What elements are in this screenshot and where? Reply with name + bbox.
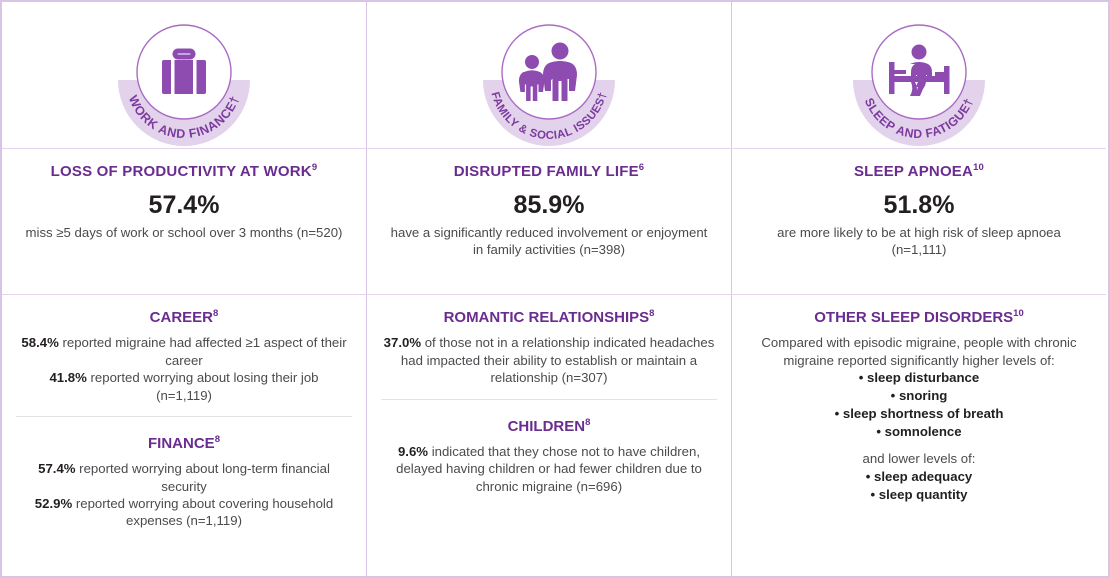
detail-line-text: indicated that they chose not to have ch…	[396, 444, 702, 494]
badge-cell-family-and-social-issues: FAMILY & SOCIAL ISSUES†	[367, 2, 731, 148]
stat-card-sleep-apnoea: SLEEP APNOEA10 51.8% are more likely to …	[732, 149, 1106, 294]
detail-line-text: (n=1,119)	[156, 388, 212, 403]
detail-block-romantic-relationships: ROMANTIC RELATIONSHIPS8 37.0% of those n…	[367, 295, 731, 399]
detail-line-text: of those not in a relationship indicated…	[401, 335, 714, 385]
stat-card-disrupted-family-life: DISRUPTED FAMILY LIFE6 85.9% have a sign…	[367, 149, 731, 294]
stat-title-text: LOSS OF PRODUCTIVITY AT WORK	[51, 163, 312, 180]
badge-sleep-and-fatigue-graphic: SLEEP AND FATIGUE†	[849, 10, 989, 148]
badge-family-and-social-issues: FAMILY & SOCIAL ISSUES†	[479, 10, 619, 148]
badge-sleep-and-fatigue: SLEEP AND FATIGUE†	[849, 10, 989, 148]
stat-value: 85.9%	[514, 190, 585, 221]
stat-card-loss-of-productivity-at-work: LOSS OF PRODUCTIVITY AT WORK9 57.4% miss…	[2, 149, 366, 294]
stat-value: 57.4%	[149, 190, 220, 221]
list-item: • sleep quantity	[746, 486, 1092, 504]
detail-title: ROMANTIC RELATIONSHIPS8	[381, 309, 717, 326]
detail-title: CHILDREN8	[381, 418, 717, 435]
detail-line-text: reported worrying about covering househo…	[72, 496, 333, 528]
list-item: • sleep shortness of breath	[746, 405, 1092, 423]
detail-title-reference: 8	[215, 434, 220, 445]
detail-line: (n=1,119)	[16, 387, 352, 404]
detail-line-text: reported worrying about long-term financ…	[76, 461, 330, 493]
stat-value: 51.8%	[884, 190, 955, 221]
detail-line-text: reported worrying about losing their job	[87, 370, 319, 385]
lower-levels-list: • sleep adequacy • sleep quantity	[746, 468, 1092, 504]
detail-body: 57.4% reported worrying about long-term …	[16, 460, 352, 530]
detail-title-text: ROMANTIC RELATIONSHIPS	[444, 309, 650, 326]
detail-column-family-and-social-issues: ROMANTIC RELATIONSHIPS8 37.0% of those n…	[367, 295, 731, 576]
detail-title-text: OTHER SLEEP DISORDERS	[814, 309, 1013, 326]
stat-title-text: SLEEP APNOEA	[854, 163, 973, 180]
detail-line-value: 9.6%	[398, 444, 428, 459]
badge-cell-work-and-finance: WORK AND FINANCE†	[2, 2, 366, 148]
detail-block-career: CAREER8 58.4% reported migraine had affe…	[2, 295, 366, 416]
detail-line-value: 41.8%	[49, 370, 86, 385]
stat-title: SLEEP APNOEA10	[854, 163, 984, 180]
detail-line: 58.4% reported migraine had affected ≥1 …	[16, 334, 352, 369]
lower-levels-intro: and lower levels of:	[746, 450, 1092, 467]
detail-block-finance: FINANCE8 57.4% reported worrying about l…	[2, 417, 366, 542]
stat-title-reference: 9	[312, 162, 317, 173]
detail-block-other-sleep-disorders: OTHER SLEEP DISORDERS10 Compared with ep…	[732, 295, 1106, 515]
stat-description: have a significantly reduced involvement…	[384, 224, 714, 258]
detail-block-children: CHILDREN8 9.6% indicated that they chose…	[367, 400, 731, 508]
detail-line: 52.9% reported worrying about covering h…	[16, 495, 352, 530]
stat-description: are more likely to be at high risk of sl…	[754, 224, 1084, 258]
detail-column-sleep-and-fatigue: OTHER SLEEP DISORDERS10 Compared with ep…	[732, 295, 1106, 576]
detail-title: FINANCE8	[16, 435, 352, 452]
list-item: • sleep adequacy	[746, 468, 1092, 486]
detail-line-value: 52.9%	[35, 496, 72, 511]
higher-levels-list: • sleep disturbance • snoring • sleep sh…	[746, 369, 1092, 440]
list-spacer	[746, 440, 1092, 450]
detail-title-reference: 8	[649, 308, 654, 319]
detail-title-reference: 8	[585, 417, 590, 428]
detail-title-reference: 8	[213, 308, 218, 319]
detail-column-work-and-finance: CAREER8 58.4% reported migraine had affe…	[2, 295, 366, 576]
stat-title: DISRUPTED FAMILY LIFE6	[454, 163, 645, 180]
detail-intro: Compared with episodic migraine, people …	[746, 334, 1092, 369]
detail-line-value: 57.4%	[38, 461, 75, 476]
badge-work-and-finance: WORK AND FINANCE†	[114, 10, 254, 148]
badge-cell-sleep-and-fatigue: SLEEP AND FATIGUE†	[732, 2, 1106, 148]
infographic-panel: WORK AND FINANCE†	[0, 0, 1110, 578]
stat-description: miss ≥5 days of work or school over 3 mo…	[26, 224, 343, 241]
detail-title-text: CAREER	[150, 309, 213, 326]
stat-title-reference: 10	[973, 162, 984, 173]
detail-body: 37.0% of those not in a relationship ind…	[381, 334, 717, 386]
detail-body: 58.4% reported migraine had affected ≥1 …	[16, 334, 352, 404]
detail-line-value: 37.0%	[384, 335, 421, 350]
detail-body: 9.6% indicated that they chose not to ha…	[381, 443, 717, 495]
infographic-grid: WORK AND FINANCE†	[2, 2, 1108, 576]
list-item: • somnolence	[746, 423, 1092, 441]
detail-line: 41.8% reported worrying about losing the…	[16, 369, 352, 386]
stat-title-text: DISRUPTED FAMILY LIFE	[454, 163, 639, 180]
detail-title: OTHER SLEEP DISORDERS10	[746, 309, 1092, 326]
detail-line: 57.4% reported worrying about long-term …	[16, 460, 352, 495]
detail-title-text: FINANCE	[148, 435, 215, 452]
stat-title-reference: 6	[639, 162, 644, 173]
stat-title: LOSS OF PRODUCTIVITY AT WORK9	[51, 163, 318, 180]
badge-family-and-social-issues-graphic: FAMILY & SOCIAL ISSUES†	[479, 10, 619, 148]
badge-work-and-finance-graphic: WORK AND FINANCE†	[114, 10, 254, 148]
list-item: • sleep disturbance	[746, 369, 1092, 387]
detail-line-text: reported migraine had affected ≥1 aspect…	[59, 335, 347, 367]
detail-title: CAREER8	[16, 309, 352, 326]
detail-title-reference: 10	[1013, 308, 1024, 319]
list-item: • snoring	[746, 387, 1092, 405]
detail-title-text: CHILDREN	[508, 418, 586, 435]
detail-line-value: 58.4%	[21, 335, 58, 350]
